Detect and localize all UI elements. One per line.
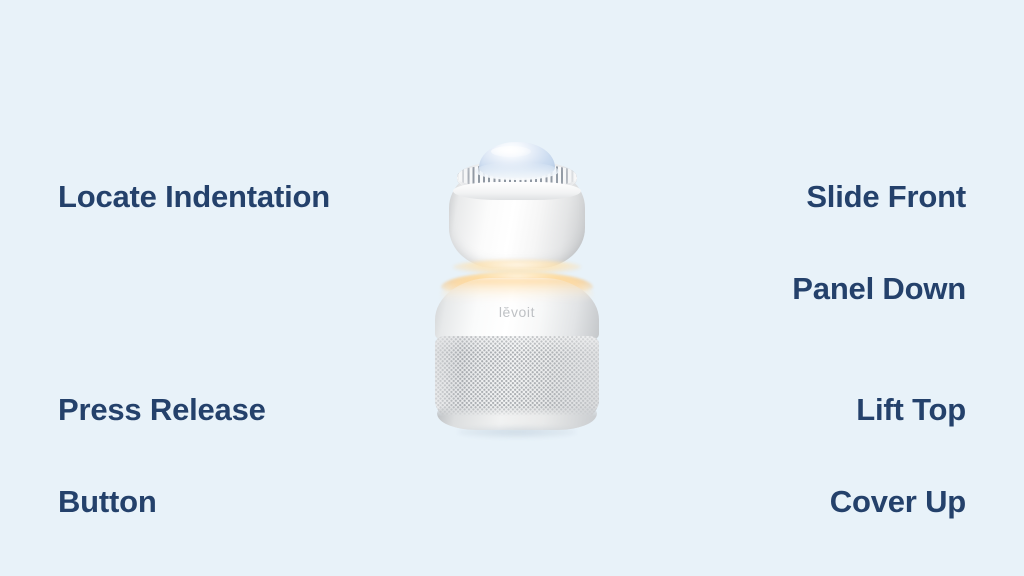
callout-slide-front-panel-down: Slide Front Panel Down xyxy=(792,128,966,358)
callout-line: Button xyxy=(58,479,266,525)
purifier-main-body: lĕvoit xyxy=(435,278,599,430)
brand-logo-text: lĕvoit xyxy=(435,304,599,320)
callout-line: Locate Indentation xyxy=(58,174,330,220)
vent-ring-lip xyxy=(453,182,581,200)
callout-line: Cover Up xyxy=(830,479,966,525)
top-cover-assembly xyxy=(449,142,585,270)
callout-line: Slide Front xyxy=(792,174,966,220)
callout-line: Panel Down xyxy=(792,266,966,312)
callout-press-release-button: Press Release Button xyxy=(58,341,266,571)
callout-lift-top-cover-up: Lift Top Cover Up xyxy=(830,341,966,571)
slide-canvas: Locate Indentation Slide Front Panel Dow… xyxy=(0,0,1024,576)
callout-line: Lift Top xyxy=(830,387,966,433)
callout-line: Press Release xyxy=(58,387,266,433)
product-contact-shadow xyxy=(457,426,577,438)
dome-base-rim xyxy=(475,162,559,180)
callout-locate-indentation: Locate Indentation xyxy=(58,128,330,266)
dome-highlight xyxy=(491,146,531,157)
air-purifier-product-image: lĕvoit xyxy=(427,142,607,437)
shoulder-warm-reflection xyxy=(441,278,593,304)
